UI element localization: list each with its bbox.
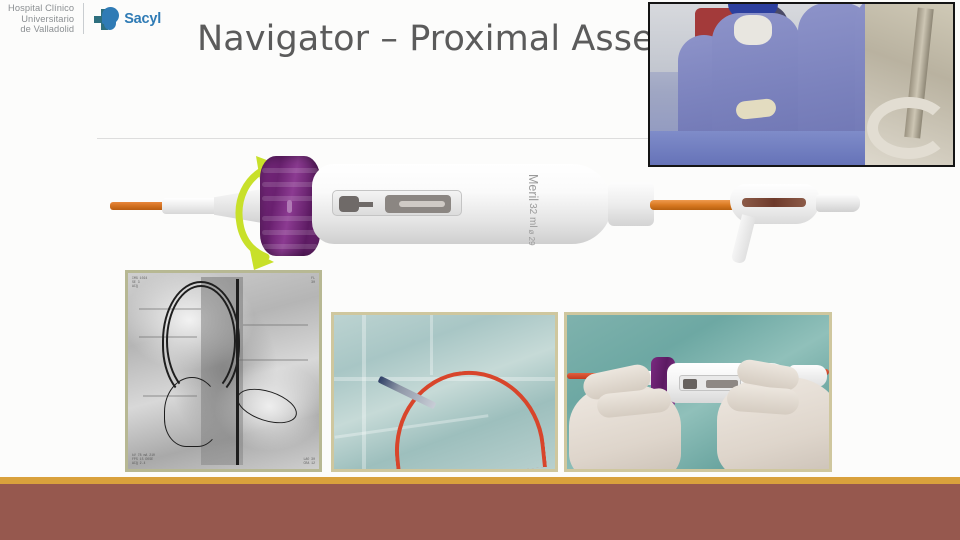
hospital-logo-line3: de Valladolid [8, 24, 74, 35]
operating-room-video-feed[interactable] [648, 2, 955, 167]
hospital-logo: Hospital Clínico Universitario de Vallad… [8, 3, 74, 35]
video-angiography-equipment [865, 4, 953, 165]
sacyl-logo-text: Sacyl [124, 11, 161, 27]
device-brand-text: Meril [526, 174, 540, 201]
device-diameter-text: ø 29 [526, 230, 540, 246]
fluoro-catheter-shaft [236, 279, 239, 465]
footer-brown-band [0, 484, 960, 540]
hospital-logo-line1: Hospital Clínico [8, 3, 74, 14]
page-title: Navigator – Proximal Assem [197, 19, 688, 59]
sacyl-logo: Sacyl [93, 7, 161, 31]
catheter-on-drape-photo [331, 312, 558, 472]
header-logos: Hospital Clínico Universitario de Vallad… [8, 3, 161, 35]
gloved-hands-device-photo: Meril 32 ml ø 29 [564, 312, 832, 472]
fluoroscopy-image: IMG 1024SE 3ACQ FL30 kV 78 mA 210FPS 15 … [125, 270, 322, 472]
device-neck [608, 182, 654, 226]
device-purple-rotating-knob[interactable] [260, 156, 320, 256]
presentation-slide: Hospital Clínico Universitario de Vallad… [0, 0, 960, 540]
device-volume-text: 32 ml [526, 203, 540, 227]
cross-swoosh-icon [93, 7, 121, 31]
hospital-logo-line2: Universitario [8, 14, 74, 25]
device-distal-catheter [110, 202, 168, 210]
device-hub-seal [742, 198, 806, 207]
device-indicator-window [332, 190, 462, 216]
device-tail-connector [816, 194, 860, 212]
device-side-arm [731, 214, 756, 264]
device-brand-label: Meril 32 ml ø 29 [526, 174, 540, 246]
device-diagram: Meril 32 ml ø 29 [110, 150, 910, 270]
footer-gold-band [0, 477, 960, 484]
logo-divider [83, 3, 84, 34]
